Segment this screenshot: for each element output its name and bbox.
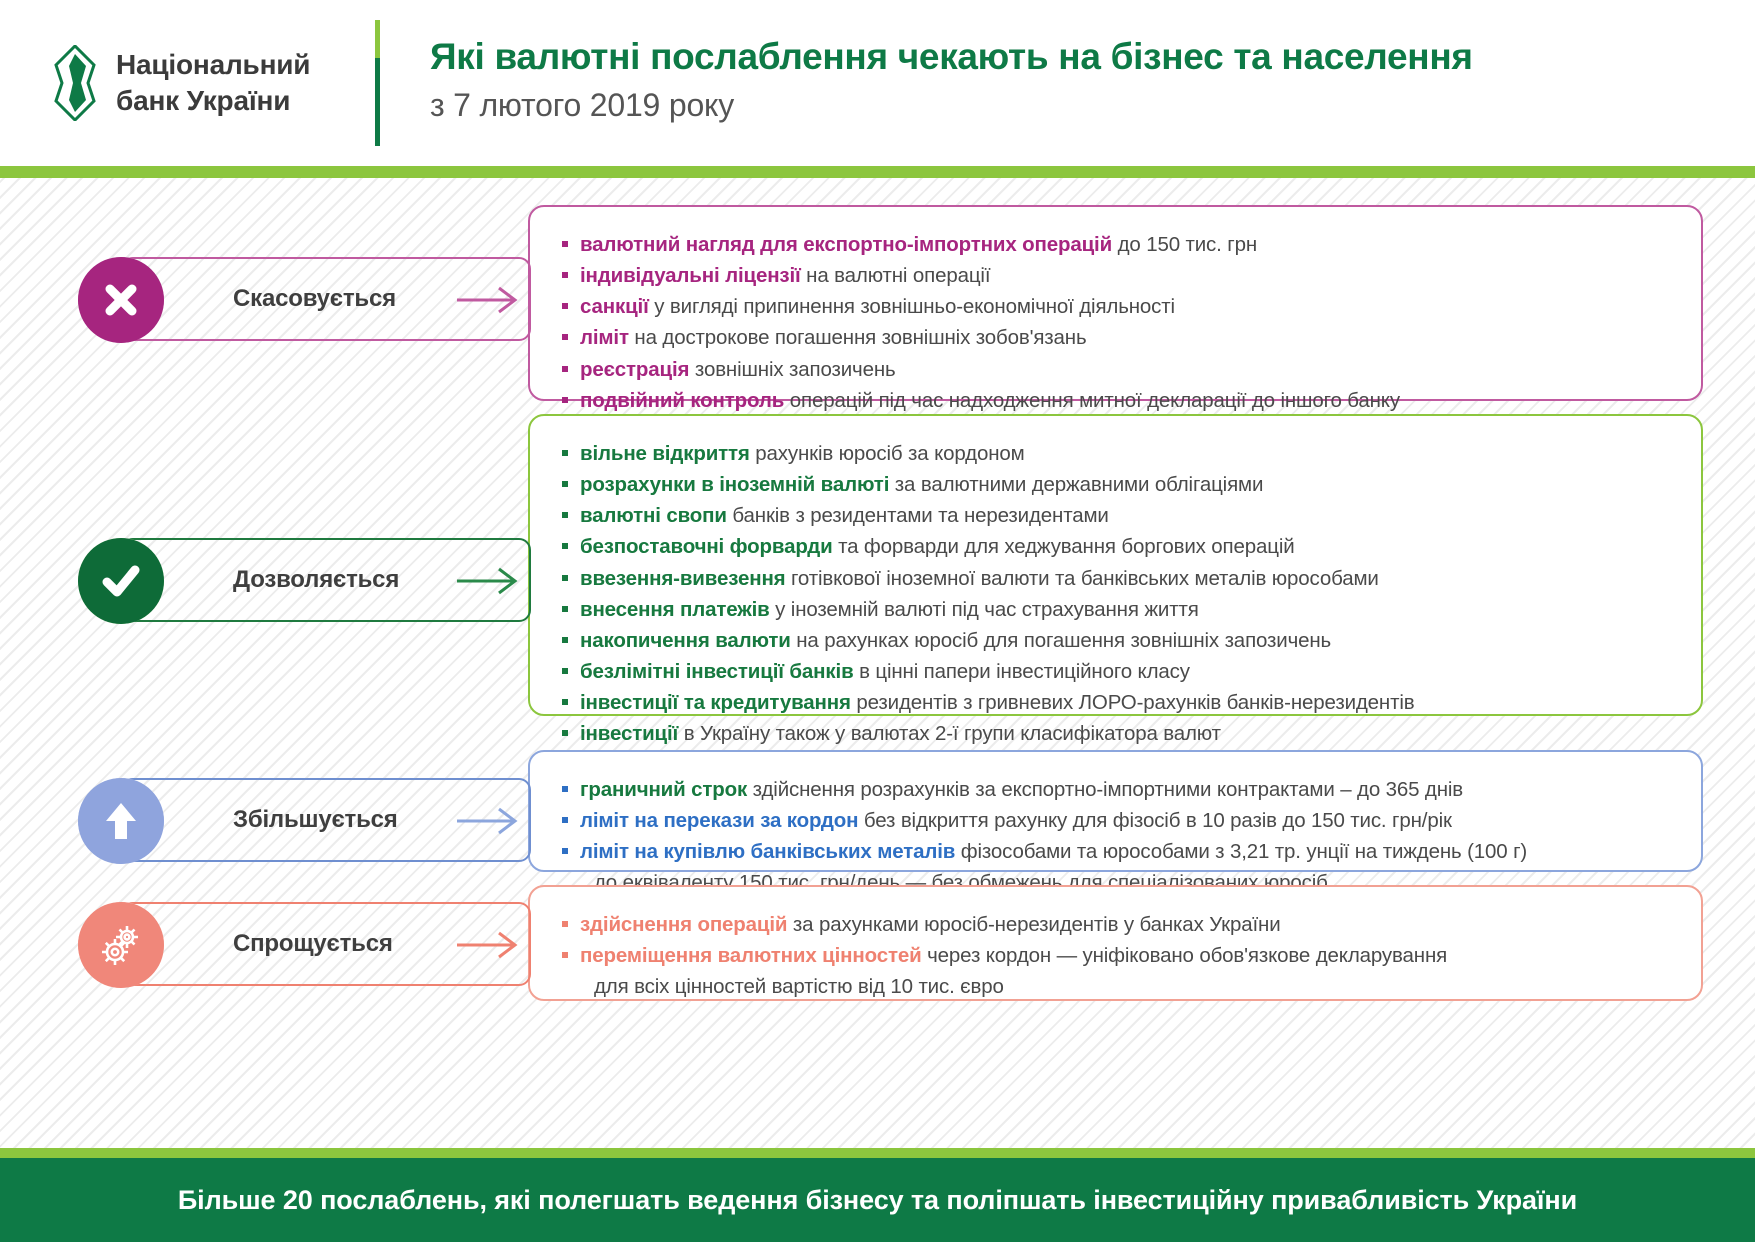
page-title: Які валютні послаблення чекають на бізне… [430, 36, 1473, 78]
item-strong: реєстрація [580, 358, 689, 381]
item-rest: зовнішніх запозичень [689, 358, 895, 381]
bullet-list-allowed: вільне відкриття рахунків юросіб за корд… [560, 438, 1675, 750]
bullet-list-increased: граничний строк здійснення розрахунків з… [560, 774, 1675, 899]
gears-icon [78, 902, 164, 988]
item-rest: здійснення розрахунків за експортно-імпо… [747, 778, 1463, 801]
item-strong: розрахунки в іноземній валюті [580, 473, 889, 496]
item-strong: накопичення валюти [580, 629, 791, 652]
top-accent-bar [0, 166, 1755, 178]
panel-simplified: здійснення операцій за рахунками юросіб-… [528, 885, 1703, 1001]
logo-line-2: банк України [116, 83, 310, 119]
item-rest: та форварди для хеджування боргових опер… [833, 535, 1295, 558]
list-item: внесення платежів у іноземній валюті під… [560, 594, 1675, 625]
section-label-increased: Збільшується [233, 806, 398, 834]
item-strong: подвійний контроль [580, 389, 784, 412]
check-icon [78, 538, 164, 624]
list-item: індивідуальні ліцензії на валютні операц… [560, 260, 1675, 291]
item-rest: банків з резидентами та нерезидентами [727, 504, 1109, 527]
list-item: здійснення операцій за рахунками юросіб-… [560, 909, 1675, 940]
list-item: інвестиції в Україну також у валютах 2-ї… [560, 718, 1675, 749]
footer-text: Більше 20 послаблень, які полегшать веде… [178, 1185, 1577, 1216]
list-item: ліміт на перекази за кордон без відкритт… [560, 805, 1675, 836]
item-rest: на дострокове погашення зовнішніх зобов'… [629, 326, 1087, 349]
arrow-simplified-icon [455, 927, 523, 963]
item-rest: на рахунках юросіб для погашення зовнішн… [791, 629, 1331, 652]
item-strong: ліміт на перекази за кордон [580, 809, 858, 832]
item-strong: внесення платежів [580, 598, 770, 621]
list-item: валютні свопи банків з резидентами та не… [560, 500, 1675, 531]
item-strong: ліміт [580, 326, 629, 349]
list-item: валютний нагляд для експортно-імпортних … [560, 229, 1675, 260]
list-item: переміщення валютних цінностей через кор… [560, 940, 1675, 1002]
item-strong: вільне відкриття [580, 442, 750, 465]
list-item: накопичення валюти на рахунках юросіб дл… [560, 625, 1675, 656]
item-continuation: для всіх цінностей вартістю від 10 тис. … [580, 971, 1675, 1002]
bottom-accent-bar [0, 1148, 1755, 1158]
page-subtitle: з 7 лютого 2019 року [430, 87, 1473, 124]
arrow-increased-icon [455, 803, 523, 839]
panel-allowed: вільне відкриття рахунків юросіб за корд… [528, 414, 1703, 716]
item-rest: резидентів з гривневих ЛОРО-рахунків бан… [851, 691, 1415, 714]
item-strong: валютний нагляд для експортно-імпортних … [580, 233, 1112, 256]
list-item: ліміт на дострокове погашення зовнішніх … [560, 322, 1675, 353]
list-item: граничний строк здійснення розрахунків з… [560, 774, 1675, 805]
list-item: безпоставочні форварди та форварди для х… [560, 531, 1675, 562]
item-rest: на валютні операції [801, 264, 991, 287]
cross-icon [78, 257, 164, 343]
item-strong: переміщення валютних цінностей [580, 944, 922, 967]
logo-line-1: Національний [116, 47, 310, 83]
list-item: санкції у вигляді припинення зовнішньо-е… [560, 291, 1675, 322]
page-header: Національний банк України Які валютні по… [0, 0, 1755, 166]
item-strong: валютні свопи [580, 504, 727, 527]
item-rest: фізособами та юрособами з 3,21 тр. унції… [955, 840, 1527, 863]
item-strong: здійснення операцій [580, 913, 787, 936]
arrow-cancelled-icon [455, 282, 523, 318]
item-strong: санкції [580, 295, 649, 318]
arrow-allowed-icon [455, 563, 523, 599]
logo-wordmark: Національний банк України [116, 47, 310, 119]
nbu-logo: Національний банк України [52, 45, 352, 121]
header-divider [375, 20, 380, 146]
item-rest: у іноземній валюті під час страхування ж… [770, 598, 1199, 621]
item-strong: безпоставочні форварди [580, 535, 833, 558]
item-rest: за рахунками юросіб-нерезидентів у банка… [787, 913, 1280, 936]
list-item: інвестиції та кредитування резидентів з … [560, 687, 1675, 718]
item-strong: інвестиції [580, 722, 678, 745]
item-rest: рахунків юросіб за кордоном [750, 442, 1025, 465]
section-label-allowed: Дозволяється [233, 566, 399, 594]
list-item: безлімітні інвестиції банків в цінні пап… [560, 656, 1675, 687]
panel-cancelled: валютний нагляд для експортно-імпортних … [528, 205, 1703, 401]
list-item: ввезення-вивезення готівкової іноземної … [560, 563, 1675, 594]
section-label-simplified: Спрощується [233, 930, 393, 958]
item-strong: ввезення-вивезення [580, 567, 786, 590]
page-footer: Більше 20 послаблень, які полегшать веде… [0, 1158, 1755, 1242]
bullet-list-simplified: здійснення операцій за рахунками юросіб-… [560, 909, 1675, 1002]
item-strong: безлімітні інвестиції банків [580, 660, 854, 683]
item-strong: індивідуальні ліцензії [580, 264, 801, 287]
item-rest: до 150 тис. грн [1112, 233, 1257, 256]
item-rest: в Україну також у валютах 2-ї групи клас… [678, 722, 1221, 745]
list-item: розрахунки в іноземній валюті за валютни… [560, 469, 1675, 500]
list-item: подвійний контроль операцій під час надх… [560, 385, 1675, 416]
item-strong: граничний строк [580, 778, 747, 801]
item-strong: інвестиції та кредитування [580, 691, 851, 714]
item-rest: готівкової іноземної валюти та банківськ… [786, 567, 1379, 590]
item-strong: ліміт на купівлю банківських металів [580, 840, 955, 863]
arrow-up-icon [78, 778, 164, 864]
bullet-list-cancelled: валютний нагляд для експортно-імпортних … [560, 229, 1675, 416]
item-rest: в цінні папери інвестиційного класу [854, 660, 1190, 683]
list-item: реєстрація зовнішніх запозичень [560, 354, 1675, 385]
item-rest: у вигляді припинення зовнішньо-економічн… [649, 295, 1175, 318]
item-rest: операцій під час надходження митної декл… [784, 389, 1400, 412]
item-rest: без відкриття рахунку для фізосіб в 10 р… [858, 809, 1451, 832]
panel-increased: граничний строк здійснення розрахунків з… [528, 750, 1703, 872]
item-rest: через кордон — уніфіковано обов'язкове д… [922, 944, 1448, 967]
item-rest: за валютними державними облігаціями [889, 473, 1263, 496]
section-label-cancelled: Скасовується [233, 285, 396, 313]
nbu-emblem-icon [52, 45, 98, 121]
list-item: вільне відкриття рахунків юросіб за корд… [560, 438, 1675, 469]
title-block: Які валютні послаблення чекають на бізне… [430, 36, 1473, 124]
